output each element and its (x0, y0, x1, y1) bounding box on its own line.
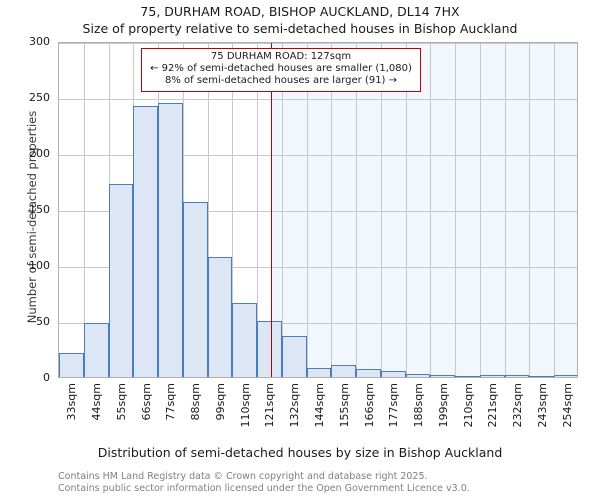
gridline-vertical (430, 43, 431, 377)
x-tick-label: 155sqm (338, 383, 351, 427)
gridline-vertical (480, 43, 481, 377)
x-tick-label: 44sqm (90, 383, 103, 420)
histogram-bar (480, 375, 505, 377)
x-tick-label: 199sqm (437, 383, 450, 427)
above-marker-shading (271, 43, 577, 377)
y-tick-label: 100 (4, 259, 50, 272)
gridline-horizontal (59, 99, 577, 100)
histogram-bar (529, 376, 554, 378)
histogram-bar (59, 353, 84, 377)
histogram-bar (331, 365, 356, 377)
annotation-line1: 75 DURHAM ROAD: 127sqm (146, 51, 416, 63)
annotation-line3: 8% of semi-detached houses are larger (9… (146, 75, 416, 87)
x-tick-label: 132sqm (288, 383, 301, 427)
annotation-line2: ← 92% of semi-detached houses are smalle… (146, 63, 416, 75)
x-tick-label: 243sqm (536, 383, 549, 427)
x-axis-title: Distribution of semi-detached houses by … (0, 445, 600, 460)
x-tick-label: 210sqm (462, 383, 475, 427)
x-tick-label: 55sqm (115, 383, 128, 420)
gridline-horizontal (59, 43, 577, 44)
property-marker-line (271, 43, 273, 377)
gridline-vertical (529, 43, 530, 377)
x-tick-label: 88sqm (189, 383, 202, 420)
x-tick-label: 77sqm (164, 383, 177, 420)
gridline-vertical (307, 43, 308, 377)
histogram-bar (455, 376, 480, 378)
histogram-bar (109, 184, 134, 377)
footer-line2: Contains public sector information licen… (58, 483, 470, 495)
histogram-bar (356, 369, 381, 377)
histogram-bar (257, 321, 282, 377)
chart-title-line1: 75, DURHAM ROAD, BISHOP AUCKLAND, DL14 7… (0, 4, 600, 19)
x-tick-label: 232sqm (511, 383, 524, 427)
property-annotation-box: 75 DURHAM ROAD: 127sqm ← 92% of semi-det… (141, 48, 421, 92)
x-tick-label: 121sqm (263, 383, 276, 427)
y-tick-label: 300 (4, 35, 50, 48)
gridline-vertical (554, 43, 555, 377)
chart-container: 75, DURHAM ROAD, BISHOP AUCKLAND, DL14 7… (0, 0, 600, 500)
x-tick-label: 33sqm (65, 383, 78, 420)
gridline-vertical (282, 43, 283, 377)
gridline-vertical (356, 43, 357, 377)
histogram-bar (554, 375, 578, 377)
gridline-vertical (406, 43, 407, 377)
gridline-vertical (381, 43, 382, 377)
y-tick-label: 150 (4, 203, 50, 216)
x-tick-label: 177sqm (387, 383, 400, 427)
plot-area (58, 42, 578, 378)
x-tick-label: 66sqm (140, 383, 153, 420)
x-tick-label: 188sqm (412, 383, 425, 427)
y-tick-label: 0 (4, 371, 50, 384)
histogram-bar (406, 374, 431, 377)
x-tick-label: 110sqm (239, 383, 252, 427)
y-tick-label: 50 (4, 315, 50, 328)
histogram-bar (183, 202, 208, 377)
histogram-bar (232, 303, 257, 377)
x-tick-label: 144sqm (313, 383, 326, 427)
x-tick-label: 254sqm (561, 383, 574, 427)
footer-attribution: Contains HM Land Registry data © Crown c… (58, 471, 470, 494)
gridline-vertical (505, 43, 506, 377)
gridline-vertical (455, 43, 456, 377)
y-tick-label: 200 (4, 147, 50, 160)
y-tick-label: 250 (4, 91, 50, 104)
chart-subtitle-line2: Size of property relative to semi-detach… (0, 21, 600, 36)
histogram-bar (208, 257, 233, 377)
histogram-bar (84, 323, 109, 377)
histogram-bar (158, 103, 183, 377)
histogram-bar (505, 375, 530, 377)
x-tick-label: 221sqm (486, 383, 499, 427)
footer-line1: Contains HM Land Registry data © Crown c… (58, 471, 470, 483)
histogram-bar (133, 106, 158, 377)
histogram-bar (430, 375, 455, 377)
x-tick-label: 99sqm (214, 383, 227, 420)
histogram-bar (307, 368, 332, 377)
histogram-bar (381, 371, 406, 377)
histogram-bar (282, 336, 307, 377)
gridline-vertical (331, 43, 332, 377)
x-tick-label: 166sqm (363, 383, 376, 427)
